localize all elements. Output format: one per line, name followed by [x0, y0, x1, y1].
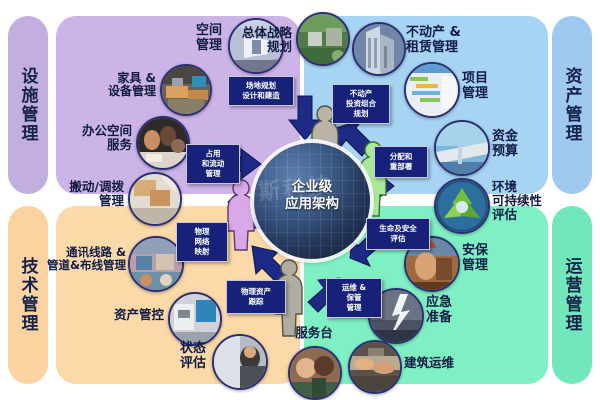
- node-icon-office-space-svc: [136, 116, 190, 170]
- node-label-move-transfer: 搬动/调拨 管理: [50, 180, 124, 208]
- node-label-realestate-lease: 不动产 & 租赁管理: [406, 26, 502, 55]
- node-icon-furniture-equip: [160, 64, 212, 116]
- node-icon-overall-strategy: [296, 12, 350, 66]
- process-box-site-planning: 场地规划 设计和建造: [228, 76, 294, 106]
- center-label: 企业级 应用架构: [254, 179, 370, 213]
- node-label-furniture-equip: 家具 & 设备管理: [74, 72, 156, 99]
- node-icon-building-ops: [348, 340, 402, 394]
- node-icon-service-desk: [288, 346, 342, 400]
- center-globe: 斯科技 企业级 应用架构: [254, 143, 370, 259]
- node-icon-capital-budget: [434, 120, 490, 176]
- node-label-comm-cabling: 通讯线路 & 管道&布线管理: [38, 246, 126, 272]
- process-box-occupancy-move: 占用 和流动 管理: [186, 144, 240, 184]
- node-label-condition-assess: 状态 评估: [150, 342, 206, 371]
- figure-purple-person: [226, 178, 256, 252]
- node-icon-asset-control: [168, 292, 222, 346]
- process-box-allocation-redeploy: 分配和 重部署: [374, 146, 428, 178]
- side-label-asset: 资产管理: [552, 16, 592, 194]
- node-label-building-ops: 建筑运维: [404, 356, 480, 370]
- node-icon-realestate-lease: [352, 22, 406, 76]
- node-icon-env-sustain: [434, 178, 490, 234]
- process-box-physical-network: 物理 网络 映射: [176, 222, 228, 262]
- process-box-physical-asset: 物理资产 跟踪: [226, 280, 286, 314]
- side-label-operation: 运营管理: [552, 206, 592, 384]
- node-label-env-sustain: 环境 可持续性 评估: [492, 180, 564, 222]
- node-label-asset-control: 资产管控: [100, 308, 164, 322]
- node-label-emergency-prep: 应急 准备: [426, 296, 484, 325]
- side-label-technical: 技术管理: [8, 206, 48, 384]
- node-label-overall-strategy: 总体战略 规划: [222, 26, 292, 54]
- process-box-life-safety: 生命及安全 评估: [366, 218, 430, 250]
- side-label-facility: 设施管理: [8, 16, 48, 194]
- node-label-space-mgmt: 空间 管理: [160, 24, 222, 53]
- node-label-security-mgmt: 安保 管理: [462, 244, 520, 273]
- node-label-capital-budget: 资金 预算: [492, 130, 550, 159]
- diagram-canvas: 设施管理 技术管理 资产管理 运营管理 空间 管理 家具 & 设备管理: [0, 0, 600, 400]
- node-icon-condition-assess: [212, 334, 268, 390]
- process-box-re-portfolio: 不动产 投资组合 规划: [332, 84, 390, 124]
- process-box-om-custody: 运维 & 保管 管理: [326, 278, 382, 318]
- node-icon-project-mgmt: [404, 62, 460, 118]
- node-label-project-mgmt: 项目 管理: [462, 72, 520, 101]
- node-icon-move-transfer: [128, 172, 182, 226]
- node-label-office-space-svc: 办公空间 服务: [58, 124, 132, 152]
